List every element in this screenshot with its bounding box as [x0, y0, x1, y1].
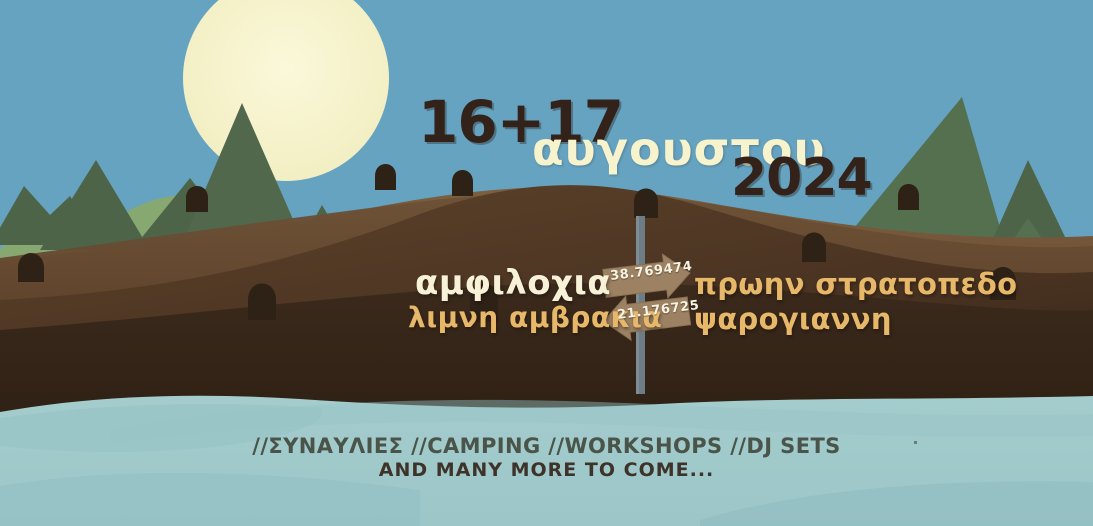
signpost-left-line1: αμφιλοχια: [415, 263, 611, 303]
lineup-line1: //ΣΥΝΑΥΛΙΕΣ //CAMPING //WORKSHOPS //DJ S…: [0, 434, 1093, 458]
date-year: 2024: [731, 148, 872, 208]
lineup-line2: AND MANY MORE TO COME...: [0, 459, 1093, 481]
festival-poster: 16+17 αυγουστου 2024 αμφιλοχια λιμνη αμβ…: [0, 0, 1093, 526]
signpost-right-line1: πρωην στρατοπεδο: [694, 267, 1017, 301]
speck-artifact: [914, 441, 917, 444]
signpost-right-line2: ψαρογιαννη: [694, 302, 892, 336]
